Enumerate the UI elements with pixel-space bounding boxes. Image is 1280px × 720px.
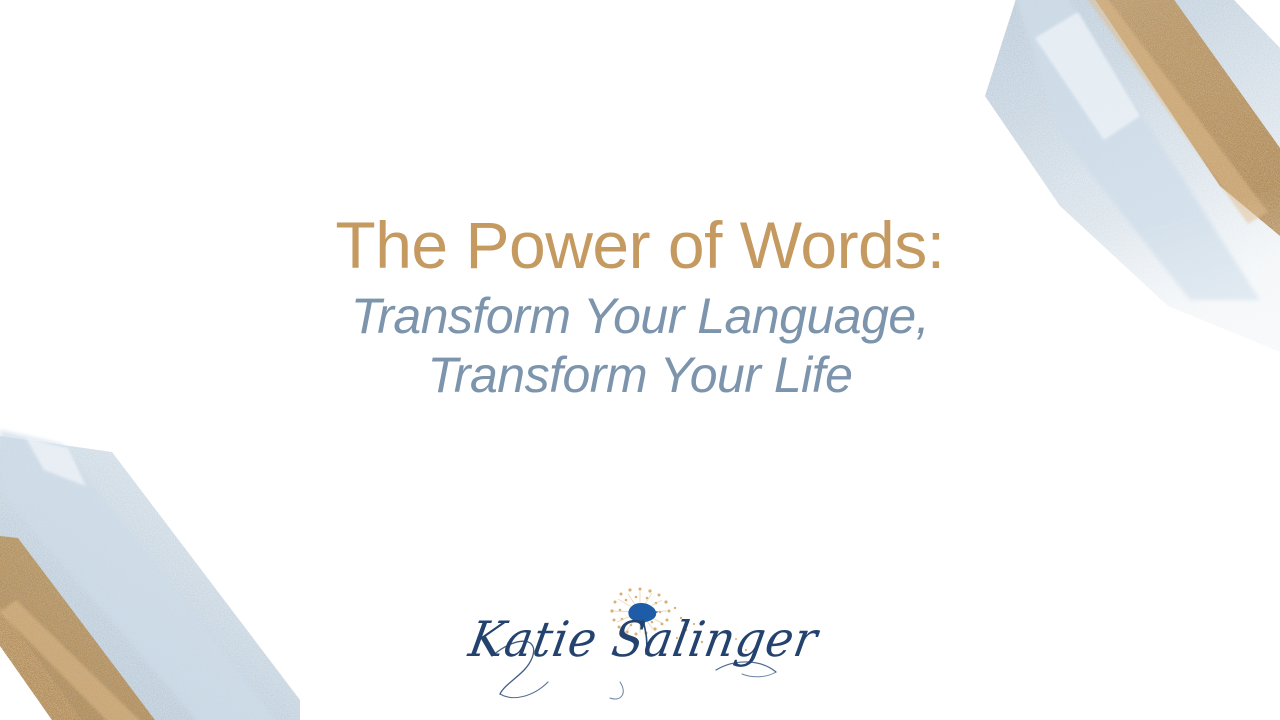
- brand-wordmark: Katie Salinger: [465, 610, 815, 667]
- page-subtitle: Transform Your Language, Transform Your …: [90, 287, 1190, 405]
- brand-logo: Katie Salinger: [470, 578, 810, 708]
- page-title: The Power of Words:: [90, 212, 1190, 279]
- slide-content: The Power of Words: Transform Your Langu…: [0, 0, 1280, 720]
- title-block: The Power of Words: Transform Your Langu…: [90, 212, 1190, 405]
- page-subtitle-line-1: Transform Your Language,: [90, 287, 1190, 346]
- page-subtitle-line-2: Transform Your Life: [90, 346, 1190, 405]
- slide-canvas: The Power of Words: Transform Your Langu…: [0, 0, 1280, 720]
